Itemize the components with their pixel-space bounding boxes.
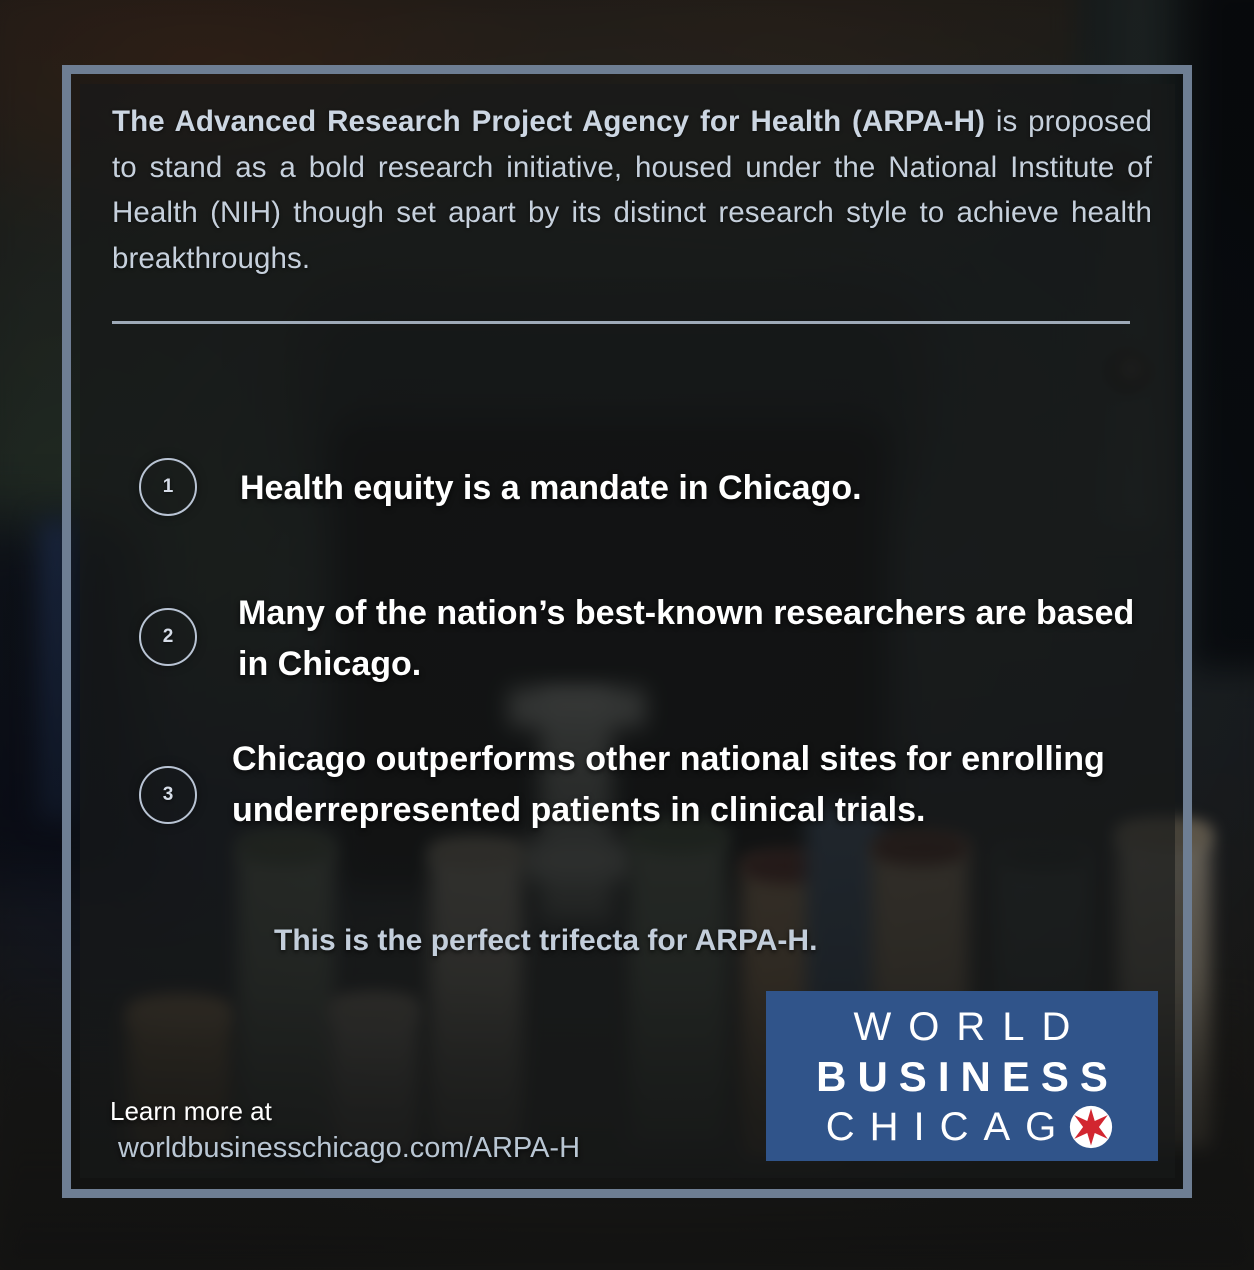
learn-more-block: Learn more at worldbusinesschicago.com/A… [110, 1094, 750, 1168]
point-number-badge: 1 [139, 458, 197, 516]
point-number-badge: 2 [139, 608, 197, 666]
point-number-badge: 3 [139, 766, 197, 824]
chicago-six-point-star-icon [1069, 1105, 1113, 1149]
section-divider [112, 321, 1130, 324]
graphic-canvas: The Advanced Research Project Agency for… [0, 0, 1254, 1270]
intro-paragraph: The Advanced Research Project Agency for… [112, 99, 1152, 281]
point-text: Chicago outperforms other national sites… [232, 734, 1132, 836]
learn-more-label: Learn more at [110, 1094, 750, 1128]
intro-bold-lead: The Advanced Research Project Agency for… [112, 105, 985, 138]
content-layer: The Advanced Research Project Agency for… [0, 0, 1254, 1270]
logo-line-world: WORLD [766, 1003, 1158, 1052]
logo-line-chicago: CHICAG [811, 1102, 1072, 1152]
learn-more-url[interactable]: worldbusinesschicago.com/ARPA-H [118, 1128, 750, 1168]
point-text: Many of the nation’s best-known research… [238, 588, 1148, 690]
logo-line-business: BUSINESS [766, 1052, 1158, 1102]
logo-line-chicago-row: CHICAG [766, 1102, 1158, 1152]
point-text: Health equity is a mandate in Chicago. [240, 463, 1140, 514]
world-business-chicago-logo[interactable]: WORLD BUSINESS CHICAG [766, 991, 1158, 1161]
trifecta-statement: This is the perfect trifecta for ARPA-H. [274, 920, 1134, 962]
